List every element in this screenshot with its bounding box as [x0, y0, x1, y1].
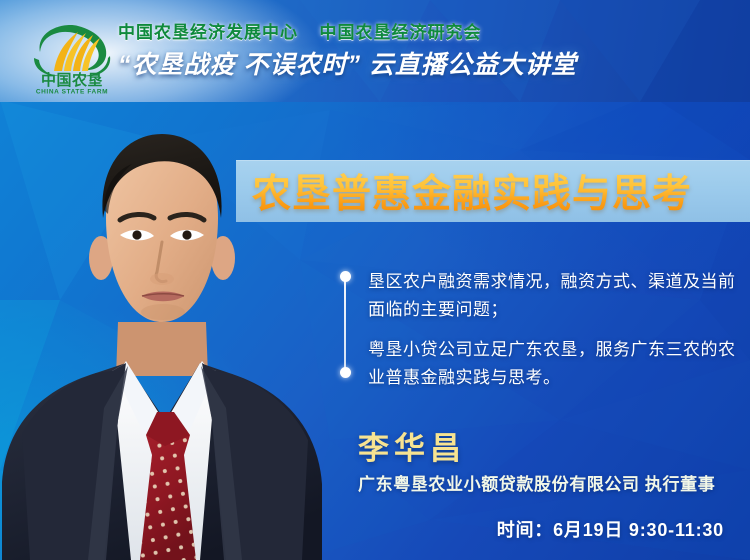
webinar-poster: 中国农垦 CHINA STATE FARM 中国农垦经济发展中心 中国农垦经济研…	[0, 0, 750, 560]
bullet-list: 垦区农户融资需求情况，融资方式、渠道及当前面临的主要问题； 粤垦小贷公司立足广东…	[340, 268, 740, 392]
event-slogan: “农垦战疫 不误农时” 云直播公益大讲堂	[118, 49, 577, 81]
organizer-2: 中国农垦经济研究会	[319, 23, 481, 42]
schedule-time: 时间：6月19日 9:30-11:30	[497, 516, 724, 542]
page-title: 农垦普惠金融实践与思考	[252, 163, 750, 219]
organizer-1: 中国农垦经济发展中心	[118, 23, 298, 42]
banner-text-block: 中国农垦经济发展中心 中国农垦经济研究会 “农垦战疫 不误农时” 云直播公益大讲…	[118, 22, 577, 81]
bullet-dot-icon	[340, 271, 351, 282]
organizer-line: 中国农垦经济发展中心 中国农垦经济研究会	[118, 22, 577, 44]
bullet-rail	[344, 276, 346, 372]
poster-header: 中国农垦 CHINA STATE FARM 中国农垦经济发展中心 中国农垦经济研…	[0, 0, 750, 102]
list-item: 垦区农户融资需求情况，融资方式、渠道及当前面临的主要问题；	[368, 268, 740, 324]
china-state-farm-logo: 中国农垦 CHINA STATE FARM	[24, 22, 120, 94]
speaker-title: 广东粤垦农业小额贷款股份有限公司 执行董事	[358, 470, 715, 495]
speaker-name: 李华昌	[358, 423, 466, 468]
list-item: 粤垦小贷公司立足广东农垦，服务广东三农的农业普惠金融实践与思考。	[368, 336, 740, 392]
bullet-dot-icon	[340, 367, 351, 378]
logo-cn-name: 中国农垦	[41, 71, 103, 89]
